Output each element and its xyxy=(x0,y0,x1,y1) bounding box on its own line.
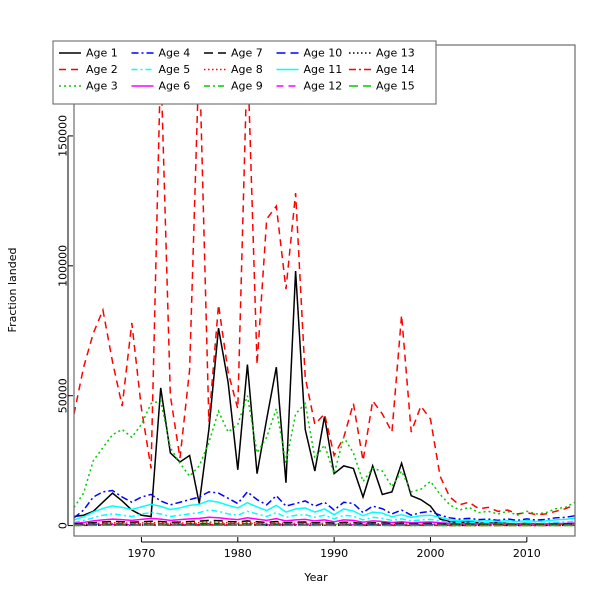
x-axis-title: Year xyxy=(303,571,328,584)
x-tick-label: 1990 xyxy=(320,547,348,560)
y-axis-title: Fraction landed xyxy=(6,248,19,333)
y-tick-label: 50000 xyxy=(57,378,70,413)
chart-container: Fraction landed Year 050000100000150000 … xyxy=(0,0,600,600)
x-tick-label: 1970 xyxy=(127,547,155,560)
x-tick-label: 1980 xyxy=(224,547,252,560)
x-tick-label: 2000 xyxy=(416,547,444,560)
legend-border xyxy=(53,41,436,104)
y-tick-label: 150000 xyxy=(57,115,70,157)
y-tick-label: 100000 xyxy=(57,245,70,287)
line-chart: Fraction landed Year 050000100000150000 … xyxy=(0,0,600,600)
x-tick-label: 2010 xyxy=(513,547,541,560)
legend[interactable]: Age 1Age 2Age 3Age 4Age 5Age 6Age 7Age 8… xyxy=(53,41,436,104)
y-tick-label: 0 xyxy=(57,522,70,529)
